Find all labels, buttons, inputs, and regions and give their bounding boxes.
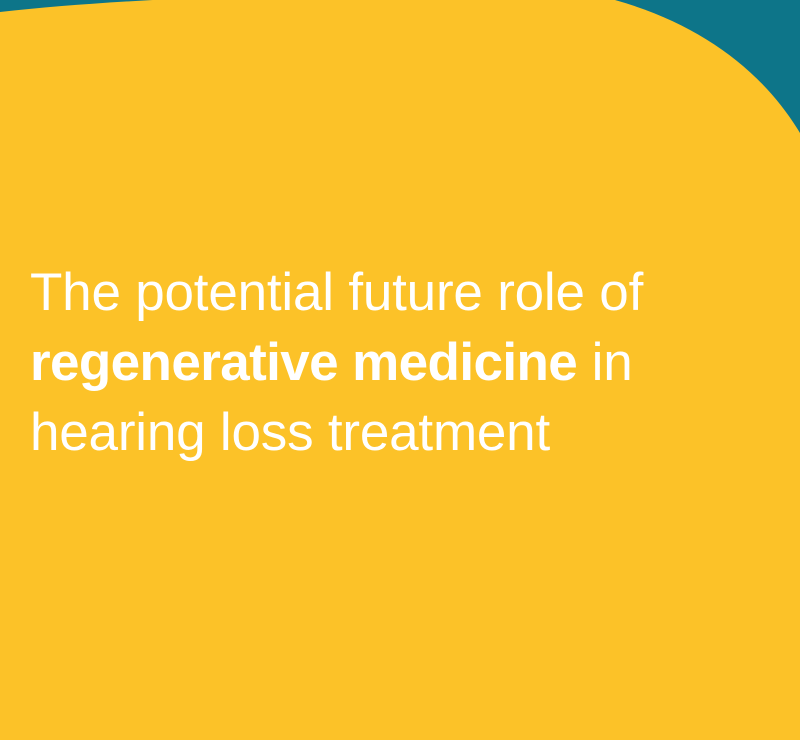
title-emphasis-regenerative-medicine: regenerative medicine [30, 333, 577, 392]
title-line-2-tail: in [577, 333, 632, 392]
title-line-1: The potential future role of [30, 258, 760, 328]
title-line-3-text: hearing loss treatment [30, 403, 550, 462]
title-line-2: regenerative medicine in [30, 328, 760, 398]
page-title: The potential future role of regenerativ… [30, 258, 760, 468]
title-line-3: hearing loss treatment [30, 398, 760, 468]
title-slide: The potential future role of regenerativ… [0, 0, 800, 740]
title-line-1-text: The potential future role of [30, 263, 643, 322]
